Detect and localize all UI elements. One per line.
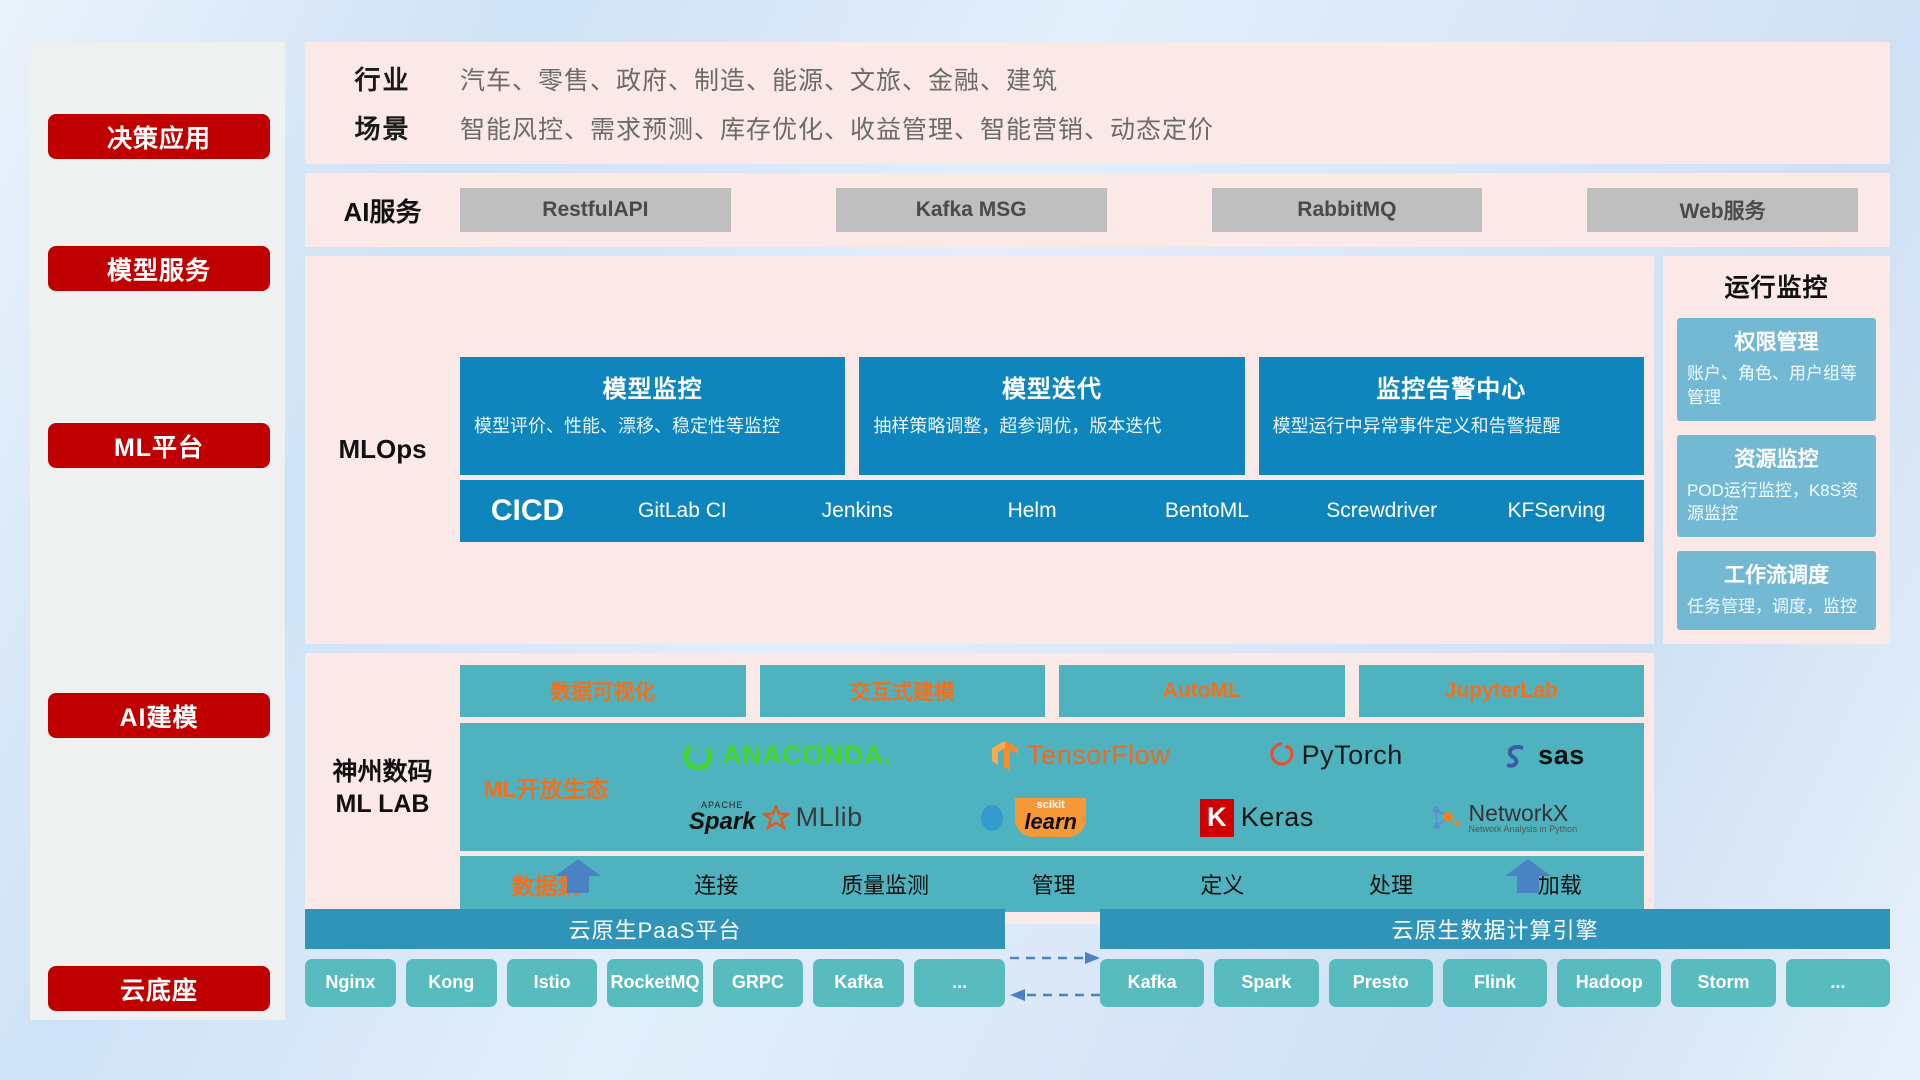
paas-chip-istio[interactable]: Istio bbox=[507, 959, 598, 1007]
card-title: 权限管理 bbox=[1687, 326, 1866, 356]
paas-chip-kafka[interactable]: Kafka bbox=[813, 959, 904, 1007]
monitor-card-permission[interactable]: 权限管理 账户、角色、用户组等管理 bbox=[1677, 318, 1876, 421]
industry-value: 汽车、零售、政府、制造、能源、文旅、金融、建筑 bbox=[460, 61, 1058, 97]
learn-logo-text: learn bbox=[1024, 811, 1077, 833]
pytorch-icon bbox=[1269, 740, 1295, 772]
rail-item-ai-modeling[interactable]: AI建模 bbox=[48, 693, 270, 738]
paas-chip-kong[interactable]: Kong bbox=[406, 959, 497, 1007]
ml-lab-tab-interactive-modeling[interactable]: 交互式建模 bbox=[760, 665, 1046, 717]
networkx-logo-text: NetworkX bbox=[1469, 801, 1578, 825]
keras-logo-text: Keras bbox=[1241, 802, 1314, 833]
ml-lab-tab-data-visualization[interactable]: 数据可视化 bbox=[460, 665, 746, 717]
card-desc: 抽样策略调整，超参调优，版本迭代 bbox=[873, 414, 1230, 440]
data-engine-chip-list: Kafka Spark Presto Flink Hadoop Storm ..… bbox=[1100, 959, 1890, 1007]
ml-lab-right-spacer bbox=[1663, 653, 1890, 924]
paas-chip-nginx[interactable]: Nginx bbox=[305, 959, 396, 1007]
data-engine-group: 云原生数据计算引擎 Kafka Spark Presto Flink Hadoo… bbox=[1100, 909, 1890, 1007]
runtime-monitor-title: 运行监控 bbox=[1677, 268, 1876, 304]
sas-logo-text: sas bbox=[1538, 740, 1585, 771]
ml-lab-tab-jupyterlab[interactable]: JupyterLab bbox=[1359, 665, 1645, 717]
ml-ecosystem-logo-grid: ANACONDA. TensorFlow bbox=[632, 726, 1644, 848]
ml-lab-tab-automl[interactable]: AutoML bbox=[1059, 665, 1345, 717]
bidirectional-link-arrows bbox=[1005, 940, 1105, 1010]
ml-lab-band: 神州数码 ML LAB 数据可视化 交互式建模 AutoML JupyterLa… bbox=[305, 653, 1654, 924]
card-title: 资源监控 bbox=[1687, 443, 1866, 473]
cicd-item-screwdriver[interactable]: Screwdriver bbox=[1294, 500, 1469, 522]
cicd-item-helm[interactable]: Helm bbox=[945, 500, 1120, 522]
scenario-label: 场景 bbox=[305, 109, 460, 146]
anaconda-logo: ANACONDA. bbox=[681, 739, 892, 773]
rail-item-decision[interactable]: 决策应用 bbox=[48, 114, 270, 159]
engine-chip-storm[interactable]: Storm bbox=[1671, 959, 1775, 1007]
card-title: 模型迭代 bbox=[873, 369, 1230, 404]
networkx-graph-icon bbox=[1428, 802, 1462, 834]
ai-service-box-list: RestfulAPI Kafka MSG RabbitMQ Web服务 bbox=[460, 188, 1890, 232]
logo-line-bottom: APACHE Spark MLlib bbox=[632, 788, 1634, 848]
diagram-main: 行业 汽车、零售、政府、制造、能源、文旅、金融、建筑 场景 智能风控、需求预测、… bbox=[305, 42, 1890, 924]
mlops-content: 模型监控 模型评价、性能、漂移、稳定性等监控 模型迭代 抽样策略调整，超参调优，… bbox=[460, 357, 1654, 542]
mlops-label: MLOps bbox=[305, 434, 460, 465]
paas-chip-list: Nginx Kong Istio RocketMQ GRPC Kafka ... bbox=[305, 959, 1005, 1007]
rail-item-model-service[interactable]: 模型服务 bbox=[48, 246, 270, 291]
cicd-item-jenkins[interactable]: Jenkins bbox=[770, 500, 945, 522]
mlops-card-model-monitoring[interactable]: 模型监控 模型评价、性能、漂移、稳定性等监控 bbox=[460, 357, 845, 475]
networkx-logo: NetworkX Network Analysis in Python bbox=[1428, 801, 1578, 835]
ml-lab-label: 神州数码 ML LAB bbox=[305, 756, 460, 821]
card-desc: 任务管理，调度，监控 bbox=[1687, 595, 1866, 619]
tensorflow-icon bbox=[990, 739, 1020, 773]
tensorflow-logo: TensorFlow bbox=[990, 739, 1170, 773]
ml-lab-content: 数据可视化 交互式建模 AutoML JupyterLab ML开放生态 bbox=[460, 665, 1654, 912]
ml-ecosystem-label: ML开放生态 bbox=[460, 770, 632, 804]
ai-service-box-web[interactable]: Web服务 bbox=[1587, 188, 1858, 232]
paas-platform-group: 云原生PaaS平台 Nginx Kong Istio RocketMQ GRPC… bbox=[305, 909, 1005, 1007]
cicd-item-gitlab-ci[interactable]: GitLab CI bbox=[595, 500, 770, 522]
pytorch-logo: PyTorch bbox=[1269, 740, 1403, 772]
paas-chip-grpc[interactable]: GRPC bbox=[713, 959, 804, 1007]
card-title: 模型监控 bbox=[474, 369, 831, 404]
card-title: 监控告警中心 bbox=[1273, 369, 1630, 404]
ai-service-box-kafka-msg[interactable]: Kafka MSG bbox=[836, 188, 1107, 232]
card-title: 工作流调度 bbox=[1687, 559, 1866, 589]
cicd-title: CICD bbox=[460, 494, 595, 528]
card-desc: 模型评价、性能、漂移、稳定性等监控 bbox=[474, 414, 831, 440]
sas-icon bbox=[1501, 741, 1531, 771]
sas-logo: sas bbox=[1501, 740, 1585, 771]
card-desc: POD运行监控，K8S资源监控 bbox=[1687, 479, 1866, 527]
layer-rail: 决策应用 模型服务 ML平台 AI建模 云底座 bbox=[30, 42, 285, 1020]
mlops-section: MLOps 模型监控 模型评价、性能、漂移、稳定性等监控 模型迭代 抽样策略调整… bbox=[305, 256, 1890, 644]
engine-chip-spark[interactable]: Spark bbox=[1214, 959, 1318, 1007]
mlops-card-model-iteration[interactable]: 模型迭代 抽样策略调整，超参调优，版本迭代 bbox=[859, 357, 1244, 475]
runtime-monitor-panel: 运行监控 权限管理 账户、角色、用户组等管理 资源监控 POD运行监控，K8S资… bbox=[1663, 256, 1890, 644]
engine-chip-flink[interactable]: Flink bbox=[1443, 959, 1547, 1007]
card-desc: 账户、角色、用户组等管理 bbox=[1687, 362, 1866, 410]
spark-logo-text: Spark bbox=[689, 810, 756, 834]
paas-up-arrow-icon bbox=[555, 859, 601, 893]
spark-mllib-logo: APACHE Spark MLlib bbox=[689, 801, 863, 834]
paas-chip-rocketmq[interactable]: RocketMQ bbox=[607, 959, 702, 1007]
cloud-base-zone: 云原生PaaS平台 Nginx Kong Istio RocketMQ GRPC… bbox=[305, 885, 1890, 1033]
pytorch-logo-text: PyTorch bbox=[1302, 740, 1403, 771]
keras-mark-icon: K bbox=[1200, 799, 1234, 837]
mlops-band: MLOps 模型监控 模型评价、性能、漂移、稳定性等监控 模型迭代 抽样策略调整… bbox=[305, 256, 1654, 644]
ml-lab-tab-list: 数据可视化 交互式建模 AutoML JupyterLab bbox=[460, 665, 1644, 717]
cicd-item-bentoml[interactable]: BentoML bbox=[1119, 500, 1294, 522]
paas-platform-title: 云原生PaaS平台 bbox=[305, 909, 1005, 949]
industry-label: 行业 bbox=[305, 60, 460, 97]
cicd-bar: CICD GitLab CI Jenkins Helm BentoML Scre… bbox=[460, 480, 1644, 542]
mllib-logo-text: MLlib bbox=[796, 802, 863, 833]
engine-chip-more[interactable]: ... bbox=[1786, 959, 1890, 1007]
ml-ecosystem-row: ML开放生态 ANACONDA. bbox=[460, 723, 1644, 851]
ai-service-band: AI服务 RestfulAPI Kafka MSG RabbitMQ Web服务 bbox=[305, 173, 1890, 247]
rail-item-cloud-base[interactable]: 云底座 bbox=[48, 966, 270, 1011]
paas-chip-more[interactable]: ... bbox=[914, 959, 1005, 1007]
data-engine-up-arrow-icon bbox=[1505, 859, 1551, 893]
keras-logo: K Keras bbox=[1200, 799, 1314, 837]
engine-chip-presto[interactable]: Presto bbox=[1329, 959, 1433, 1007]
ai-service-box-rabbitmq[interactable]: RabbitMQ bbox=[1212, 188, 1483, 232]
networkx-logo-subtitle: Network Analysis in Python bbox=[1469, 825, 1578, 834]
ml-lab-label-line1: 神州数码 bbox=[305, 756, 460, 789]
tensorflow-logo-text: TensorFlow bbox=[1027, 740, 1170, 771]
ai-service-box-restfulapi[interactable]: RestfulAPI bbox=[460, 188, 731, 232]
ml-lab-label-line2: ML LAB bbox=[305, 788, 460, 821]
engine-chip-hadoop[interactable]: Hadoop bbox=[1557, 959, 1661, 1007]
mlops-card-alert-center[interactable]: 监控告警中心 模型运行中异常事件定义和告警提醒 bbox=[1259, 357, 1644, 475]
engine-chip-kafka[interactable]: Kafka bbox=[1100, 959, 1204, 1007]
monitor-card-resource[interactable]: 资源监控 POD运行监控，K8S资源监控 bbox=[1677, 435, 1876, 538]
data-engine-title: 云原生数据计算引擎 bbox=[1100, 909, 1890, 949]
logo-line-top: ANACONDA. TensorFlow bbox=[632, 726, 1634, 786]
mlops-card-list: 模型监控 模型评价、性能、漂移、稳定性等监控 模型迭代 抽样策略调整，超参调优，… bbox=[460, 357, 1644, 475]
scenario-row: 场景 智能风控、需求预测、库存优化、收益管理、智能营销、动态定价 bbox=[305, 109, 1890, 146]
anaconda-logo-text: ANACONDA. bbox=[722, 740, 892, 771]
scikit-learn-logo: scikit learn bbox=[976, 798, 1086, 837]
industry-row: 行业 汽车、零售、政府、制造、能源、文旅、金融、建筑 bbox=[305, 60, 1890, 97]
card-desc: 模型运行中异常事件定义和告警提醒 bbox=[1273, 414, 1630, 440]
monitor-card-workflow[interactable]: 工作流调度 任务管理，调度，监控 bbox=[1677, 551, 1876, 630]
rail-item-ml-platform[interactable]: ML平台 bbox=[48, 423, 270, 468]
spark-star-icon bbox=[763, 805, 789, 831]
ml-lab-section: 神州数码 ML LAB 数据可视化 交互式建模 AutoML JupyterLa… bbox=[305, 653, 1890, 924]
cicd-item-kfserving[interactable]: KFServing bbox=[1469, 500, 1644, 522]
applications-band: 行业 汽车、零售、政府、制造、能源、文旅、金融、建筑 场景 智能风控、需求预测、… bbox=[305, 42, 1890, 164]
anaconda-icon bbox=[681, 739, 715, 773]
scikit-blue-blob-icon bbox=[976, 802, 1008, 834]
ai-service-label: AI服务 bbox=[305, 192, 460, 229]
scenario-value: 智能风控、需求预测、库存优化、收益管理、智能营销、动态定价 bbox=[460, 110, 1214, 146]
